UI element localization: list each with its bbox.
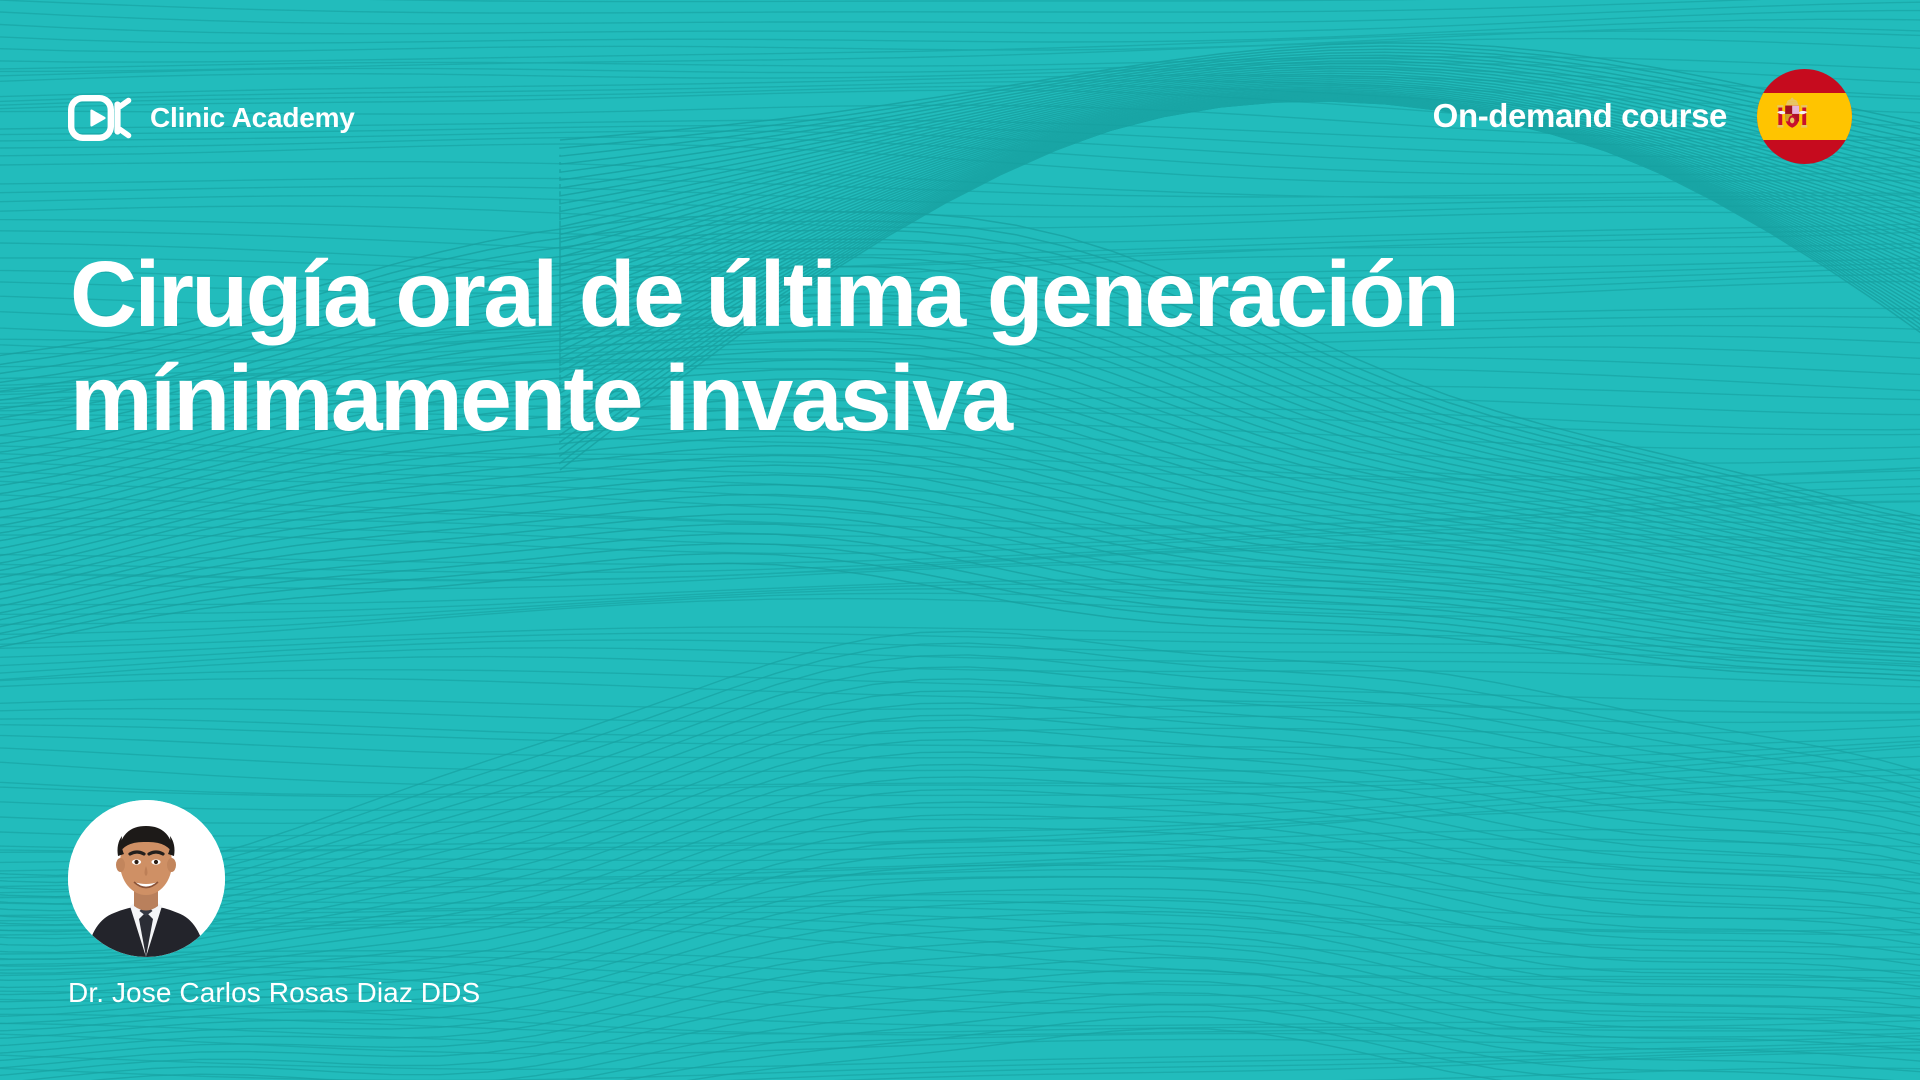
avatar (68, 800, 225, 957)
page-title: Cirugía oral de última generación mínima… (70, 242, 1770, 450)
course-type-label: On-demand course (1433, 98, 1727, 134)
brand-name: Clinic Academy (150, 104, 355, 132)
brand-lockup[interactable]: Clinic Academy (68, 93, 355, 143)
presenter-name: Dr. Jose Carlos Rosas Diaz DDS (68, 976, 828, 1010)
course-title-slide: Clinic Academy On-demand course (0, 0, 1920, 1080)
spain-flag-icon (1757, 69, 1852, 164)
video-camera-icon (68, 95, 134, 141)
title-text: Cirugía oral de última generación mínima… (70, 242, 1457, 450)
presenter-block: Dr. Jose Carlos Rosas Diaz DDS (68, 800, 828, 1010)
